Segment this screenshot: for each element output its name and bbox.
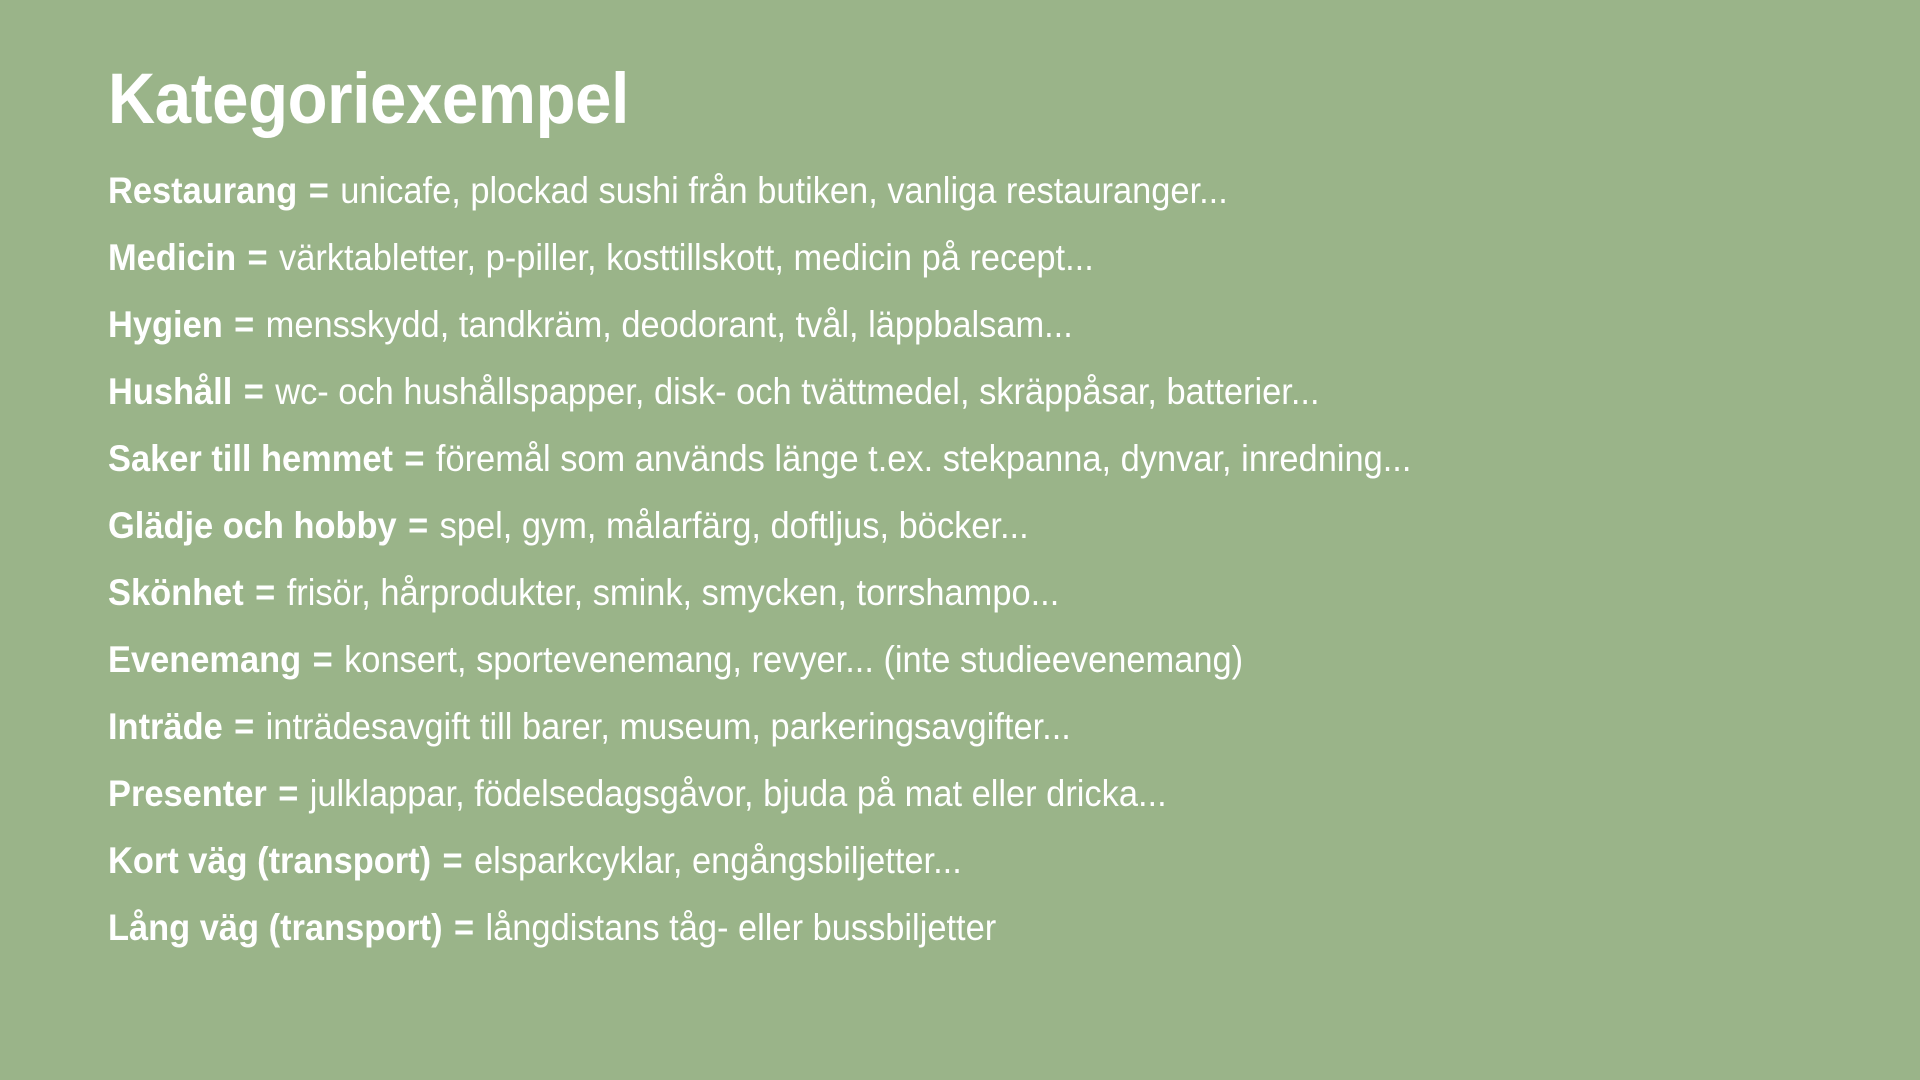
category-description: värktabletter, p-piller, kosttillskott, … <box>279 237 1094 278</box>
equals-separator: = <box>307 170 331 211</box>
category-list-item: Glädje och hobby = spel, gym, målarfärg,… <box>108 492 1726 559</box>
equals-separator: = <box>403 438 427 479</box>
category-name: Evenemang <box>108 639 301 680</box>
category-list-item: Presenter = julklappar, födelsedagsgåvor… <box>108 760 1726 827</box>
equals-separator: = <box>232 706 256 747</box>
equals-separator: = <box>276 773 300 814</box>
category-description: föremål som används länge t.ex. stekpann… <box>436 438 1412 479</box>
category-name: Hygien <box>108 304 223 345</box>
category-name: Presenter <box>108 773 267 814</box>
category-description: unicafe, plockad sushi från butiken, van… <box>340 170 1228 211</box>
equals-separator: = <box>246 237 270 278</box>
category-name: Skönhet <box>108 572 244 613</box>
slide-content-area: Kategoriexempel Restaurang = unicafe, pl… <box>108 62 1848 961</box>
category-list-item: Restaurang = unicafe, plockad sushi från… <box>108 157 1726 224</box>
category-list-item: Hushåll = wc- och hushållspapper, disk- … <box>108 358 1726 425</box>
category-name: Inträde <box>108 706 223 747</box>
equals-separator: = <box>232 304 256 345</box>
category-description: julklappar, födelsedagsgåvor, bjuda på m… <box>310 773 1167 814</box>
equals-separator: = <box>452 907 476 948</box>
equals-separator: = <box>253 572 277 613</box>
category-description: wc- och hushållspapper, disk- och tvättm… <box>275 371 1319 412</box>
equals-separator: = <box>311 639 335 680</box>
presentation-slide: Kategoriexempel Restaurang = unicafe, pl… <box>0 0 1920 1080</box>
equals-separator: = <box>406 505 430 546</box>
category-list-item: Kort väg (transport) = elsparkcyklar, en… <box>108 827 1726 894</box>
category-name: Kort väg (transport) <box>108 840 431 881</box>
category-name: Saker till hemmet <box>108 438 393 479</box>
category-name: Glädje och hobby <box>108 505 397 546</box>
category-list: Restaurang = unicafe, plockad sushi från… <box>108 157 1848 961</box>
category-name: Restaurang <box>108 170 297 211</box>
category-description: konsert, sportevenemang, revyer... (inte… <box>344 639 1243 680</box>
category-name: Lång väg (transport) <box>108 907 443 948</box>
category-name: Hushåll <box>108 371 232 412</box>
category-description: elsparkcyklar, engångsbiljetter... <box>474 840 962 881</box>
category-list-item: Inträde = inträdesavgift till barer, mus… <box>108 693 1726 760</box>
category-description: inträdesavgift till barer, museum, parke… <box>266 706 1071 747</box>
category-list-item: Skönhet = frisör, hårprodukter, smink, s… <box>108 559 1726 626</box>
page-title: Kategoriexempel <box>108 62 1709 137</box>
category-list-item: Saker till hemmet = föremål som används … <box>108 425 1726 492</box>
category-list-item: Hygien = mensskydd, tandkräm, deodorant,… <box>108 291 1726 358</box>
category-list-item: Evenemang = konsert, sportevenemang, rev… <box>108 626 1726 693</box>
category-name: Medicin <box>108 237 236 278</box>
category-description: frisör, hårprodukter, smink, smycken, to… <box>287 572 1060 613</box>
category-description: mensskydd, tandkräm, deodorant, tvål, lä… <box>266 304 1073 345</box>
category-description: långdistans tåg- eller bussbiljetter <box>486 907 997 948</box>
category-description: spel, gym, målarfärg, doftljus, böcker..… <box>440 505 1029 546</box>
category-list-item: Lång väg (transport) = långdistans tåg- … <box>108 894 1726 961</box>
equals-separator: = <box>242 371 266 412</box>
category-list-item: Medicin = värktabletter, p-piller, kostt… <box>108 224 1726 291</box>
equals-separator: = <box>441 840 465 881</box>
